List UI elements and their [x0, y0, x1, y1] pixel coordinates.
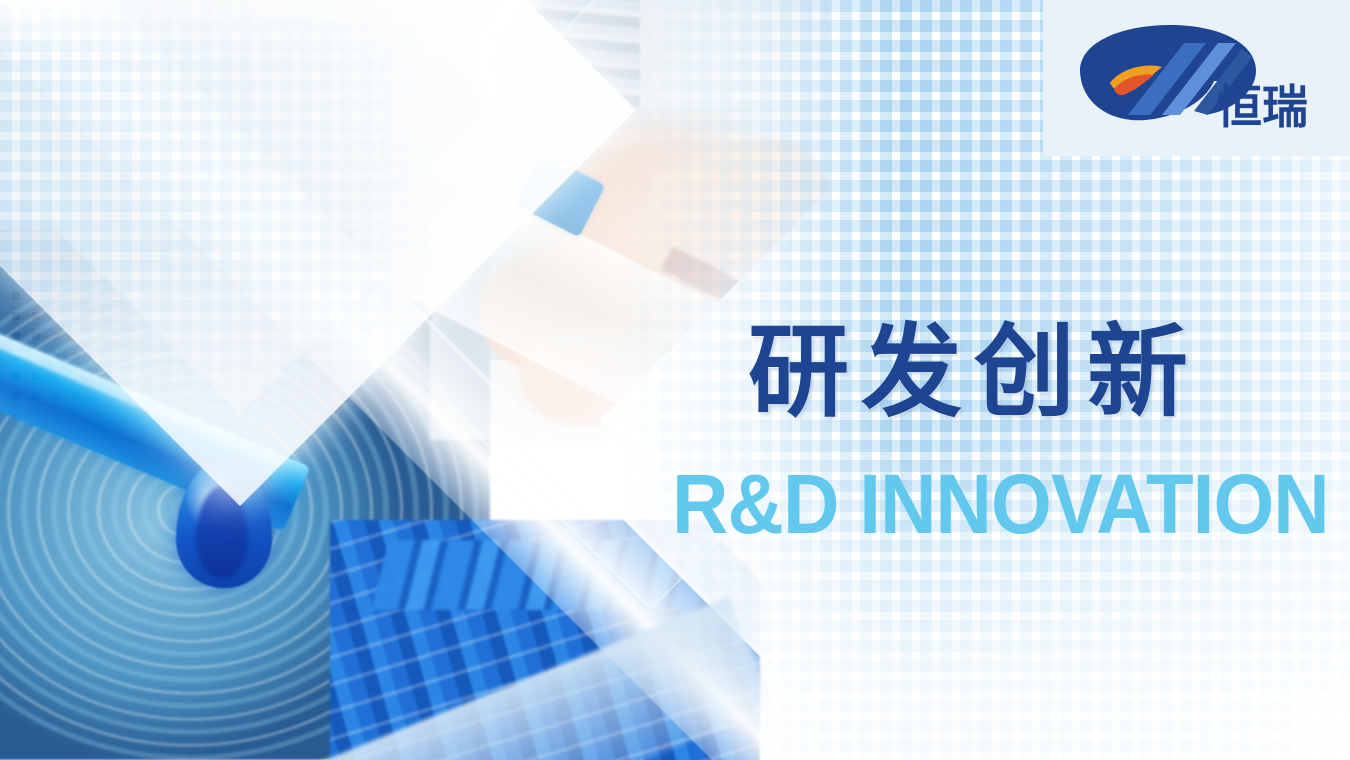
hengrui-logo-icon: 恒瑞	[1066, 19, 1328, 137]
logo-plate: 恒瑞	[1043, 0, 1350, 156]
headline-chinese: 研发创新	[748, 322, 1200, 423]
hengrui-logo: 恒瑞	[1066, 19, 1328, 137]
logo-brand-text: 恒瑞	[1216, 80, 1308, 134]
rd-innovation-banner: 研发创新 R&D INNOVATION 恒瑞	[0, 0, 1350, 760]
headline-english: R&D INNOVATION	[672, 462, 1329, 546]
